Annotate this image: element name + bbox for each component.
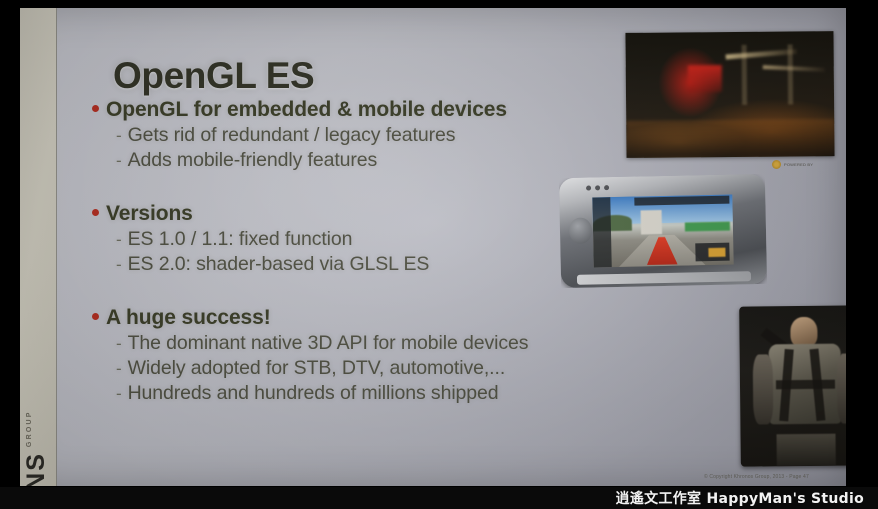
road-decor [626, 119, 834, 158]
sub-bullet-item: - Adds mobile-friendly features [116, 149, 652, 172]
3d-character-render [739, 305, 846, 466]
device-button-icon [586, 186, 591, 191]
sub-bullet-label: Widely adopted for STB, DTV, automotive,… [128, 357, 506, 380]
character-belt-decor [776, 379, 835, 389]
presentation-slide: KHRNS GROUP OpenGL ES OpenGL for embedde… [20, 8, 846, 486]
character-legs-decor [776, 434, 835, 467]
dash-icon: - [116, 359, 122, 379]
sub-bullet-label: ES 2.0: shader-based via GLSL ES [128, 253, 430, 276]
slide-copyright: © Copyright Khronos Group, 2013 - Page 4… [704, 474, 809, 480]
dash-icon: - [116, 126, 122, 146]
sub-bullet-label: Gets rid of redundant / legacy features [128, 124, 456, 147]
character-arm-decor [837, 353, 846, 424]
light-beam-decor [763, 65, 826, 72]
nav-sidebar-decor [592, 197, 612, 268]
sub-bullet-label: Hundreds and hundreds of millions shippe… [128, 382, 499, 405]
slide-content: OpenGL ES OpenGL for embedded & mobile d… [56, 8, 846, 486]
sub-bullet-item: - The dominant native 3D API for mobile … [116, 332, 652, 355]
handheld-navigation-device [559, 174, 767, 288]
sub-bullet-label: Adds mobile-friendly features [128, 149, 378, 172]
sub-bullet-item: - Hundreds and hundreds of millions ship… [116, 382, 652, 405]
bullet-group-huge-success: A huge success! - The dominant native 3D… [92, 306, 652, 405]
dash-icon: - [116, 384, 122, 404]
bullet-dot-icon [92, 105, 99, 112]
bullet-heading: OpenGL for embedded & mobile devices [92, 98, 652, 122]
khronos-logo-text-s: S [24, 452, 49, 471]
building-decor [640, 210, 661, 234]
projector-photo-frame: KHRNS GROUP OpenGL ES OpenGL for embedde… [0, 0, 878, 509]
device-button-icon [595, 186, 600, 191]
nav-hud-icon [708, 247, 725, 257]
character-head-decor [790, 317, 817, 348]
device-dpad-icon [569, 217, 592, 244]
caption-badge-icon [772, 160, 781, 169]
dash-icon: - [116, 151, 122, 171]
khronos-wordmark: KHRNS [24, 452, 49, 486]
dash-icon: - [116, 230, 122, 250]
sub-bullet-item: - Widely adopted for STB, DTV, automotiv… [116, 357, 652, 380]
bullet-heading-label: A huge success! [106, 306, 271, 330]
device-screen [592, 194, 734, 267]
device-button-icon [604, 186, 609, 191]
bullet-heading: A huge success! [92, 306, 652, 330]
khronos-logo: KHRNS GROUP [24, 374, 60, 486]
bullet-heading-label: Versions [106, 202, 193, 226]
khronos-logo-text-n: N [24, 471, 49, 486]
khronos-logo-subtitle: GROUP [26, 410, 33, 447]
dash-icon: - [116, 334, 122, 354]
greenery-decor [685, 221, 730, 232]
page-title: OpenGL ES [113, 55, 314, 97]
night-screenshot-caption: POWERED BY [772, 160, 834, 169]
bullet-heading-label: OpenGL for embedded & mobile devices [106, 98, 507, 122]
watermark-text: 逍遙文工作室 HappyMan's Studio [616, 488, 864, 508]
light-beam-decor [725, 49, 796, 60]
sub-bullet-item: - Gets rid of redundant / legacy feature… [116, 124, 652, 147]
bullet-group-opengl-embedded: OpenGL for embedded & mobile devices - G… [92, 98, 652, 172]
dash-icon: - [116, 255, 122, 275]
character-arm-decor [752, 354, 773, 425]
red-sign-decor [688, 65, 722, 93]
caption-text: POWERED BY [784, 162, 813, 167]
bullet-dot-icon [92, 209, 99, 216]
bullet-dot-icon [92, 313, 99, 320]
sub-bullet-label: The dominant native 3D API for mobile de… [128, 332, 529, 355]
khronos-sidebar-strip: KHRNS GROUP [20, 8, 57, 486]
sub-bullet-label: ES 1.0 / 1.1: fixed function [128, 228, 353, 251]
night-racing-screenshot [625, 31, 834, 158]
watermark-bar: 逍遙文工作室 HappyMan's Studio [0, 487, 878, 509]
